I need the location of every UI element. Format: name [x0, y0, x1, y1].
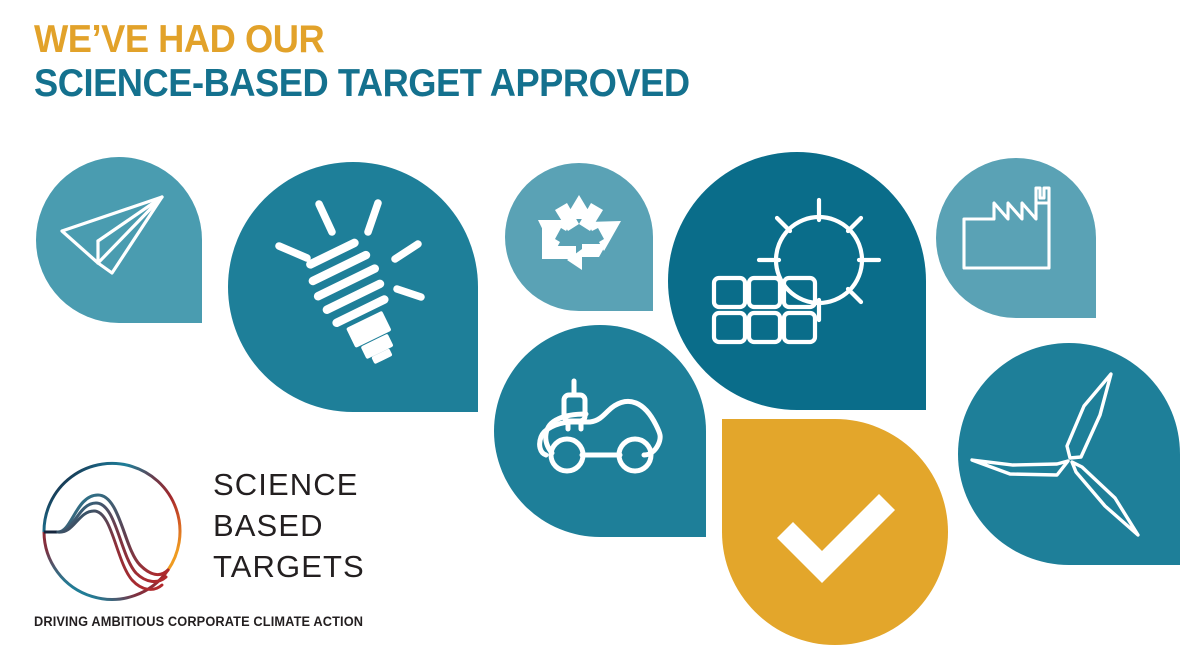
pin-shape-solar-panel [668, 152, 926, 410]
logo-wordmark-line-2: BASED [213, 506, 365, 547]
logo-tagline: DRIVING AMBITIOUS CORPORATE CLIMATE ACTI… [34, 614, 363, 630]
headline-line-2: SCIENCE-BASED TARGET APPROVED [34, 62, 871, 106]
pin-paper-plane [36, 157, 202, 323]
logo-mark [32, 449, 187, 604]
logo-wordmark: SCIENCE BASED TARGETS [213, 465, 365, 588]
pin-lightbulb [228, 162, 478, 412]
logo-wordmark-line-1: SCIENCE [213, 465, 365, 506]
pin-shape-factory [936, 158, 1096, 318]
pin-recycle [505, 163, 653, 311]
pin-solar-panel [668, 152, 926, 410]
pin-shape-electric-car [494, 325, 706, 537]
science-based-targets-logo: SCIENCE BASED TARGETS DRIVING AMBITIOUS … [30, 447, 390, 647]
pin-factory [936, 158, 1096, 318]
pin-checkmark [722, 419, 948, 645]
pin-shape-checkmark [722, 419, 948, 645]
pin-shape-lightbulb [228, 162, 478, 412]
pin-shape-recycle [505, 163, 653, 311]
logo-curve-3 [58, 511, 162, 589]
headline-block: WE’VE HAD OUR SCIENCE-BASED TARGET APPRO… [34, 18, 934, 105]
logo-wordmark-line-3: TARGETS [213, 547, 365, 588]
pin-electric-car [494, 325, 706, 537]
pin-wind-turbine [958, 343, 1180, 565]
headline-line-1: WE’VE HAD OUR [34, 18, 871, 62]
poster-canvas: WE’VE HAD OUR SCIENCE-BASED TARGET APPRO… [0, 0, 1200, 670]
